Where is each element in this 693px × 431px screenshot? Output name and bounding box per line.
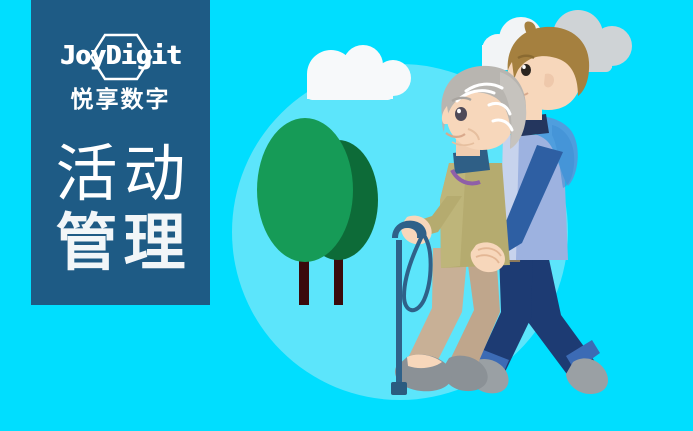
elderly-woman-head [441,66,526,150]
brand-subtitle: 悦享数字 [31,86,210,114]
elderly-woman-eye [455,107,467,121]
cane-shaft [396,240,402,395]
headline-line-1: 活动 [31,140,210,208]
brand-wordmark: JoyDigit [31,41,210,71]
brand-mark: JoyDigit [31,32,210,82]
headline-line-2: 管理 [31,208,210,278]
headline-block: 活动 管理 [31,140,210,278]
info-panel: JoyDigit 悦享数字 活动 管理 [31,0,210,305]
poster-canvas: JoyDigit 悦享数字 活动 管理 [0,0,693,431]
cane-tip [391,382,407,395]
young-man-eye [521,64,531,76]
brand-lockup: JoyDigit 悦享数字 [31,32,210,114]
